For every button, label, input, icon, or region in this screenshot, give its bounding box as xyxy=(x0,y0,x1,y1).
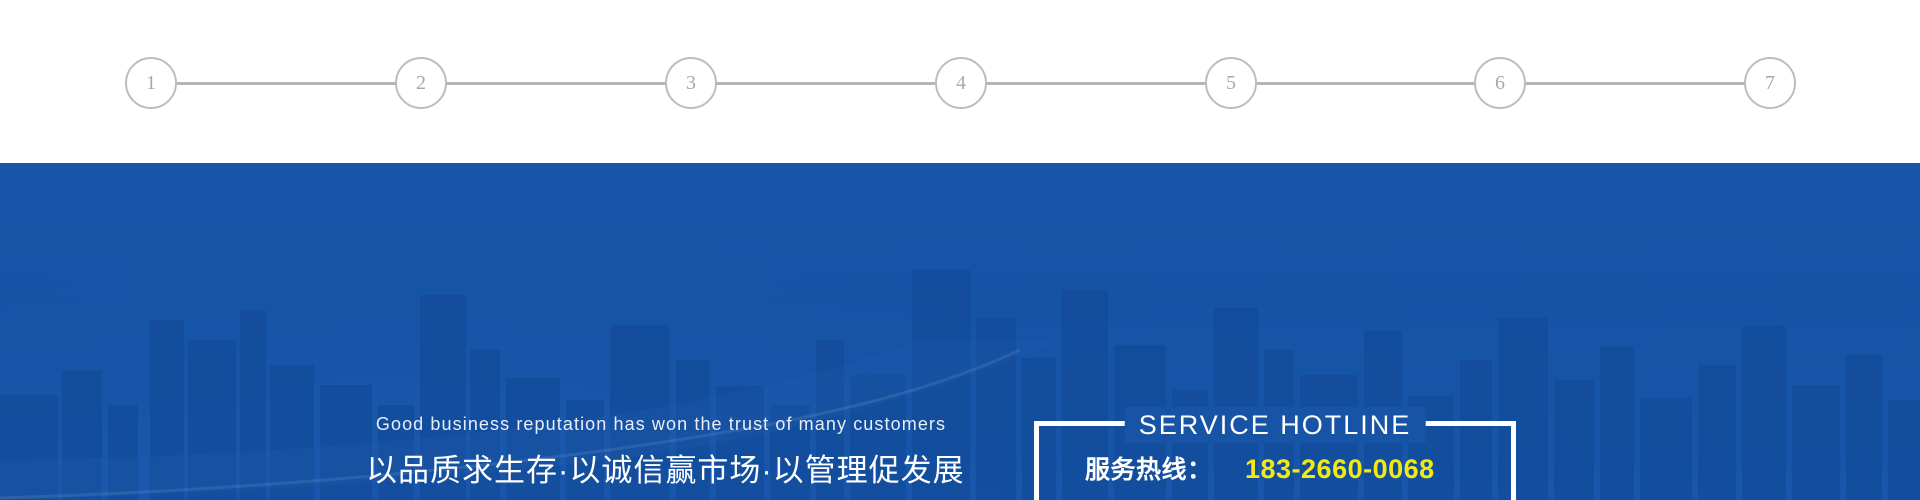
hotline-label: 服务热线： xyxy=(1085,450,1245,486)
service-hotline-rows: 服务热线： 183-2660-0068 服务热线： 0551-63749777 xyxy=(1039,450,1511,500)
hotline-number-mobile[interactable]: 183-2660-0068 xyxy=(1245,454,1435,485)
hotline-row-primary: 服务热线： 183-2660-0068 xyxy=(1039,450,1511,486)
stepper-node-label: 5 xyxy=(1226,73,1236,93)
stepper-node-5[interactable]: 5 xyxy=(1205,57,1257,109)
service-hotline-box: SERVICE HOTLINE 服务热线： 183-2660-0068 服务热线… xyxy=(1034,421,1516,500)
stepper-node-label: 3 xyxy=(686,73,696,93)
stepper-node-6[interactable]: 6 xyxy=(1474,57,1526,109)
service-hotline-title: SERVICE HOTLINE xyxy=(1125,407,1426,443)
slogan-chinese-main: 以品质求生存·以诚信赢市场·以管理促发展 xyxy=(366,452,956,491)
stepper-node-3[interactable]: 3 xyxy=(665,57,717,109)
stepper-node-2[interactable]: 2 xyxy=(395,57,447,109)
stepper-node-label: 6 xyxy=(1495,73,1505,93)
hotline-row-secondary: 服务热线： 0551-63749777 xyxy=(1039,492,1511,500)
stepper-node-label: 2 xyxy=(416,73,426,93)
stepper-node-label: 1 xyxy=(146,73,156,93)
slogan-english: Good business reputation has won the tru… xyxy=(366,413,956,436)
stepper-node-1[interactable]: 1 xyxy=(125,57,177,109)
footer-banner-page: 1 2 3 4 5 6 7 xyxy=(0,0,1920,500)
stepper-node-7[interactable]: 7 xyxy=(1744,57,1796,109)
slogan-block: Good business reputation has won the tru… xyxy=(366,413,956,500)
stepper-node-4[interactable]: 4 xyxy=(935,57,987,109)
hotline-number-landline[interactable]: 0551-63749777 xyxy=(1245,496,1441,500)
stepper-node-label: 4 xyxy=(956,73,966,93)
blue-banner: Good business reputation has won the tru… xyxy=(0,163,1920,500)
stepper-node-label: 7 xyxy=(1765,73,1775,93)
stepper-strip: 1 2 3 4 5 6 7 xyxy=(0,0,1920,163)
